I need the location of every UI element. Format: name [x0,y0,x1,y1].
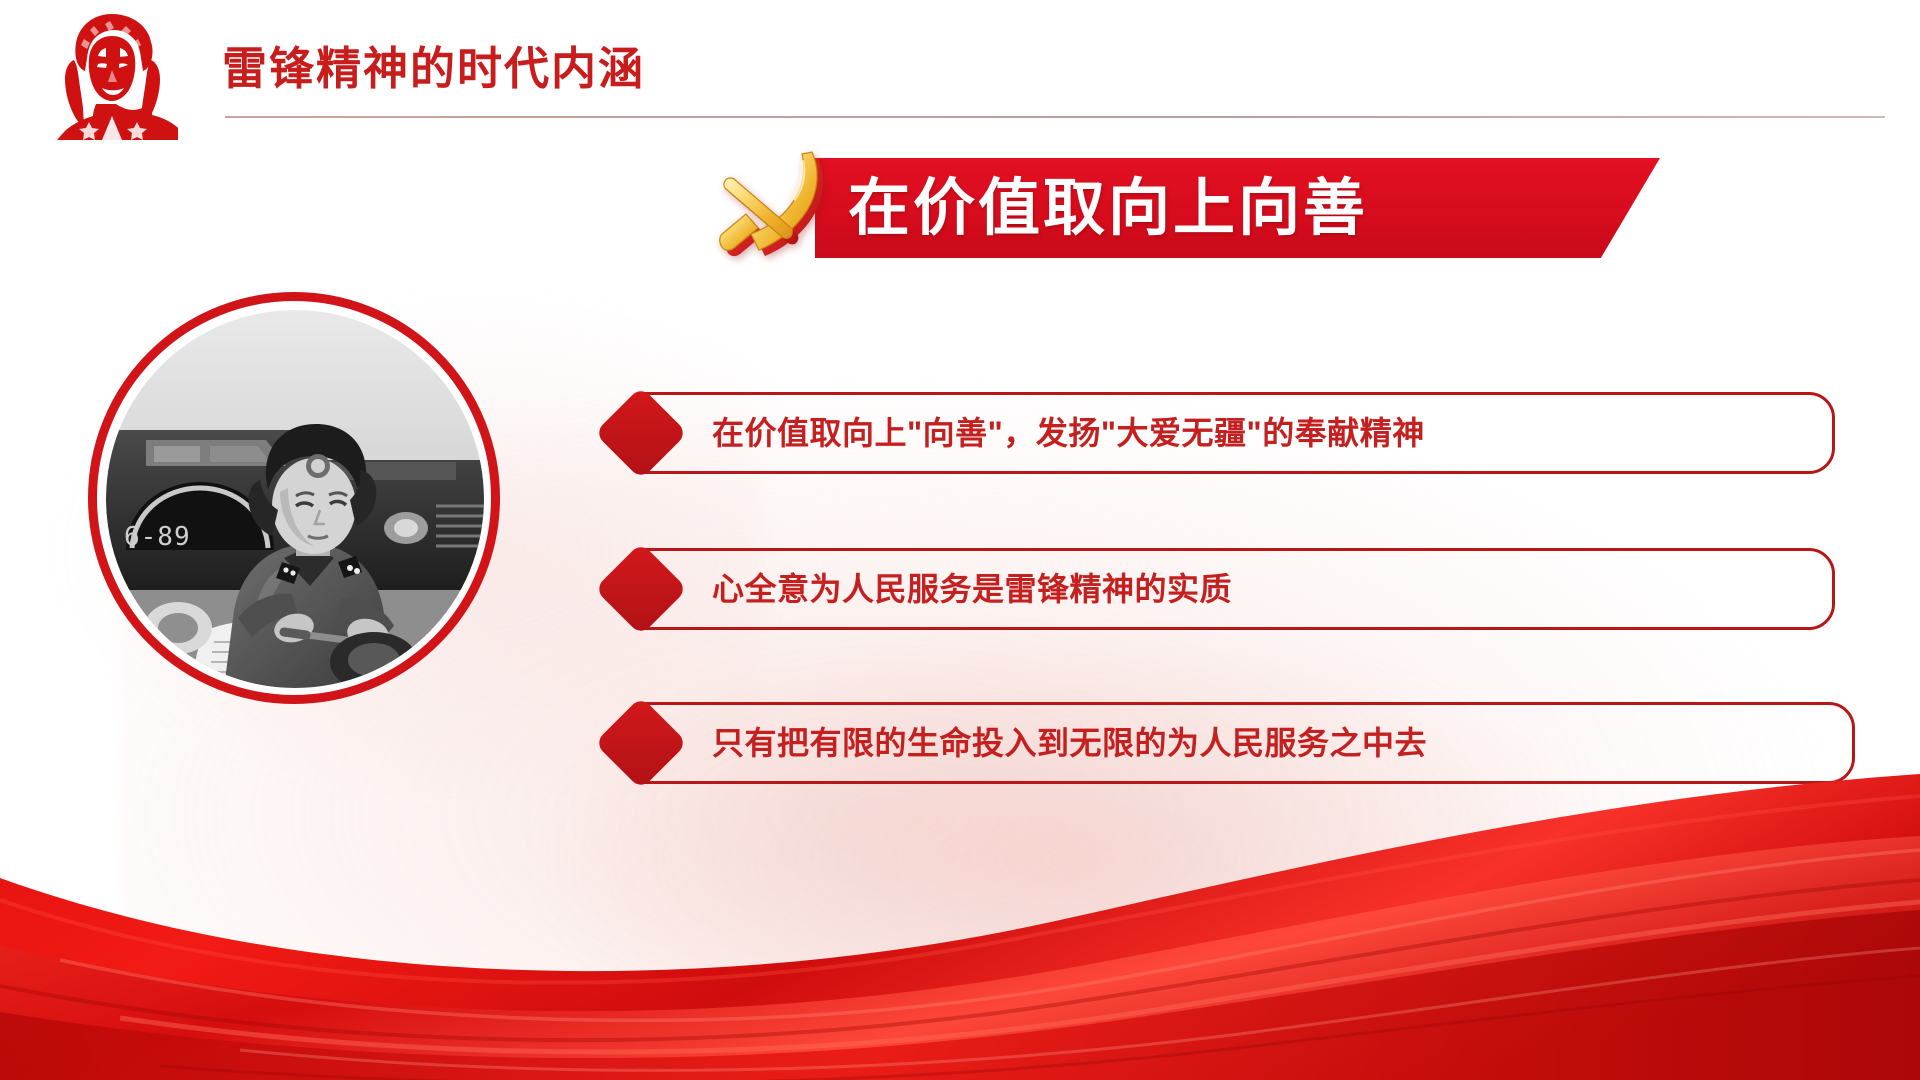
bullet-label: 只有把有限的生命投入到无限的为人民服务之中去 [712,702,1427,784]
list-item[interactable]: 在价值取向上"向善"，发扬"大爱无疆"的奉献精神 [640,392,1835,474]
header-divider [225,116,1885,118]
bullet-label: 在价值取向上"向善"，发扬"大爱无疆"的奉献精神 [712,392,1425,474]
slide-header: 雷锋精神的时代内涵 [0,0,1920,140]
photo-artwork: 6-89 [106,310,484,688]
banner-title: 在价值取向上向善 [848,164,1368,254]
lei-feng-portrait-icon [48,12,178,140]
page-title: 雷锋精神的时代内涵 [222,32,645,97]
lei-feng-photo-icon: 6-89 [88,292,500,704]
slide-canvas: 雷锋精神的时代内涵 在价值取向上向善 [0,0,1920,1080]
photo-clip: 6-89 [102,306,488,692]
svg-text:6-89: 6-89 [124,522,191,552]
bullet-label: 心全意为人民服务是雷锋精神的实质 [712,548,1232,630]
party-hammer-sickle-emblem-icon [700,140,870,275]
wash-bottom [520,620,1620,1020]
section-banner: 在价值取向上向善 [700,140,1660,275]
red-silk-ribbon-icon [0,750,1920,1080]
list-item[interactable]: 只有把有限的生命投入到无限的为人民服务之中去 [640,702,1855,784]
list-item[interactable]: 心全意为人民服务是雷锋精神的实质 [640,548,1835,630]
